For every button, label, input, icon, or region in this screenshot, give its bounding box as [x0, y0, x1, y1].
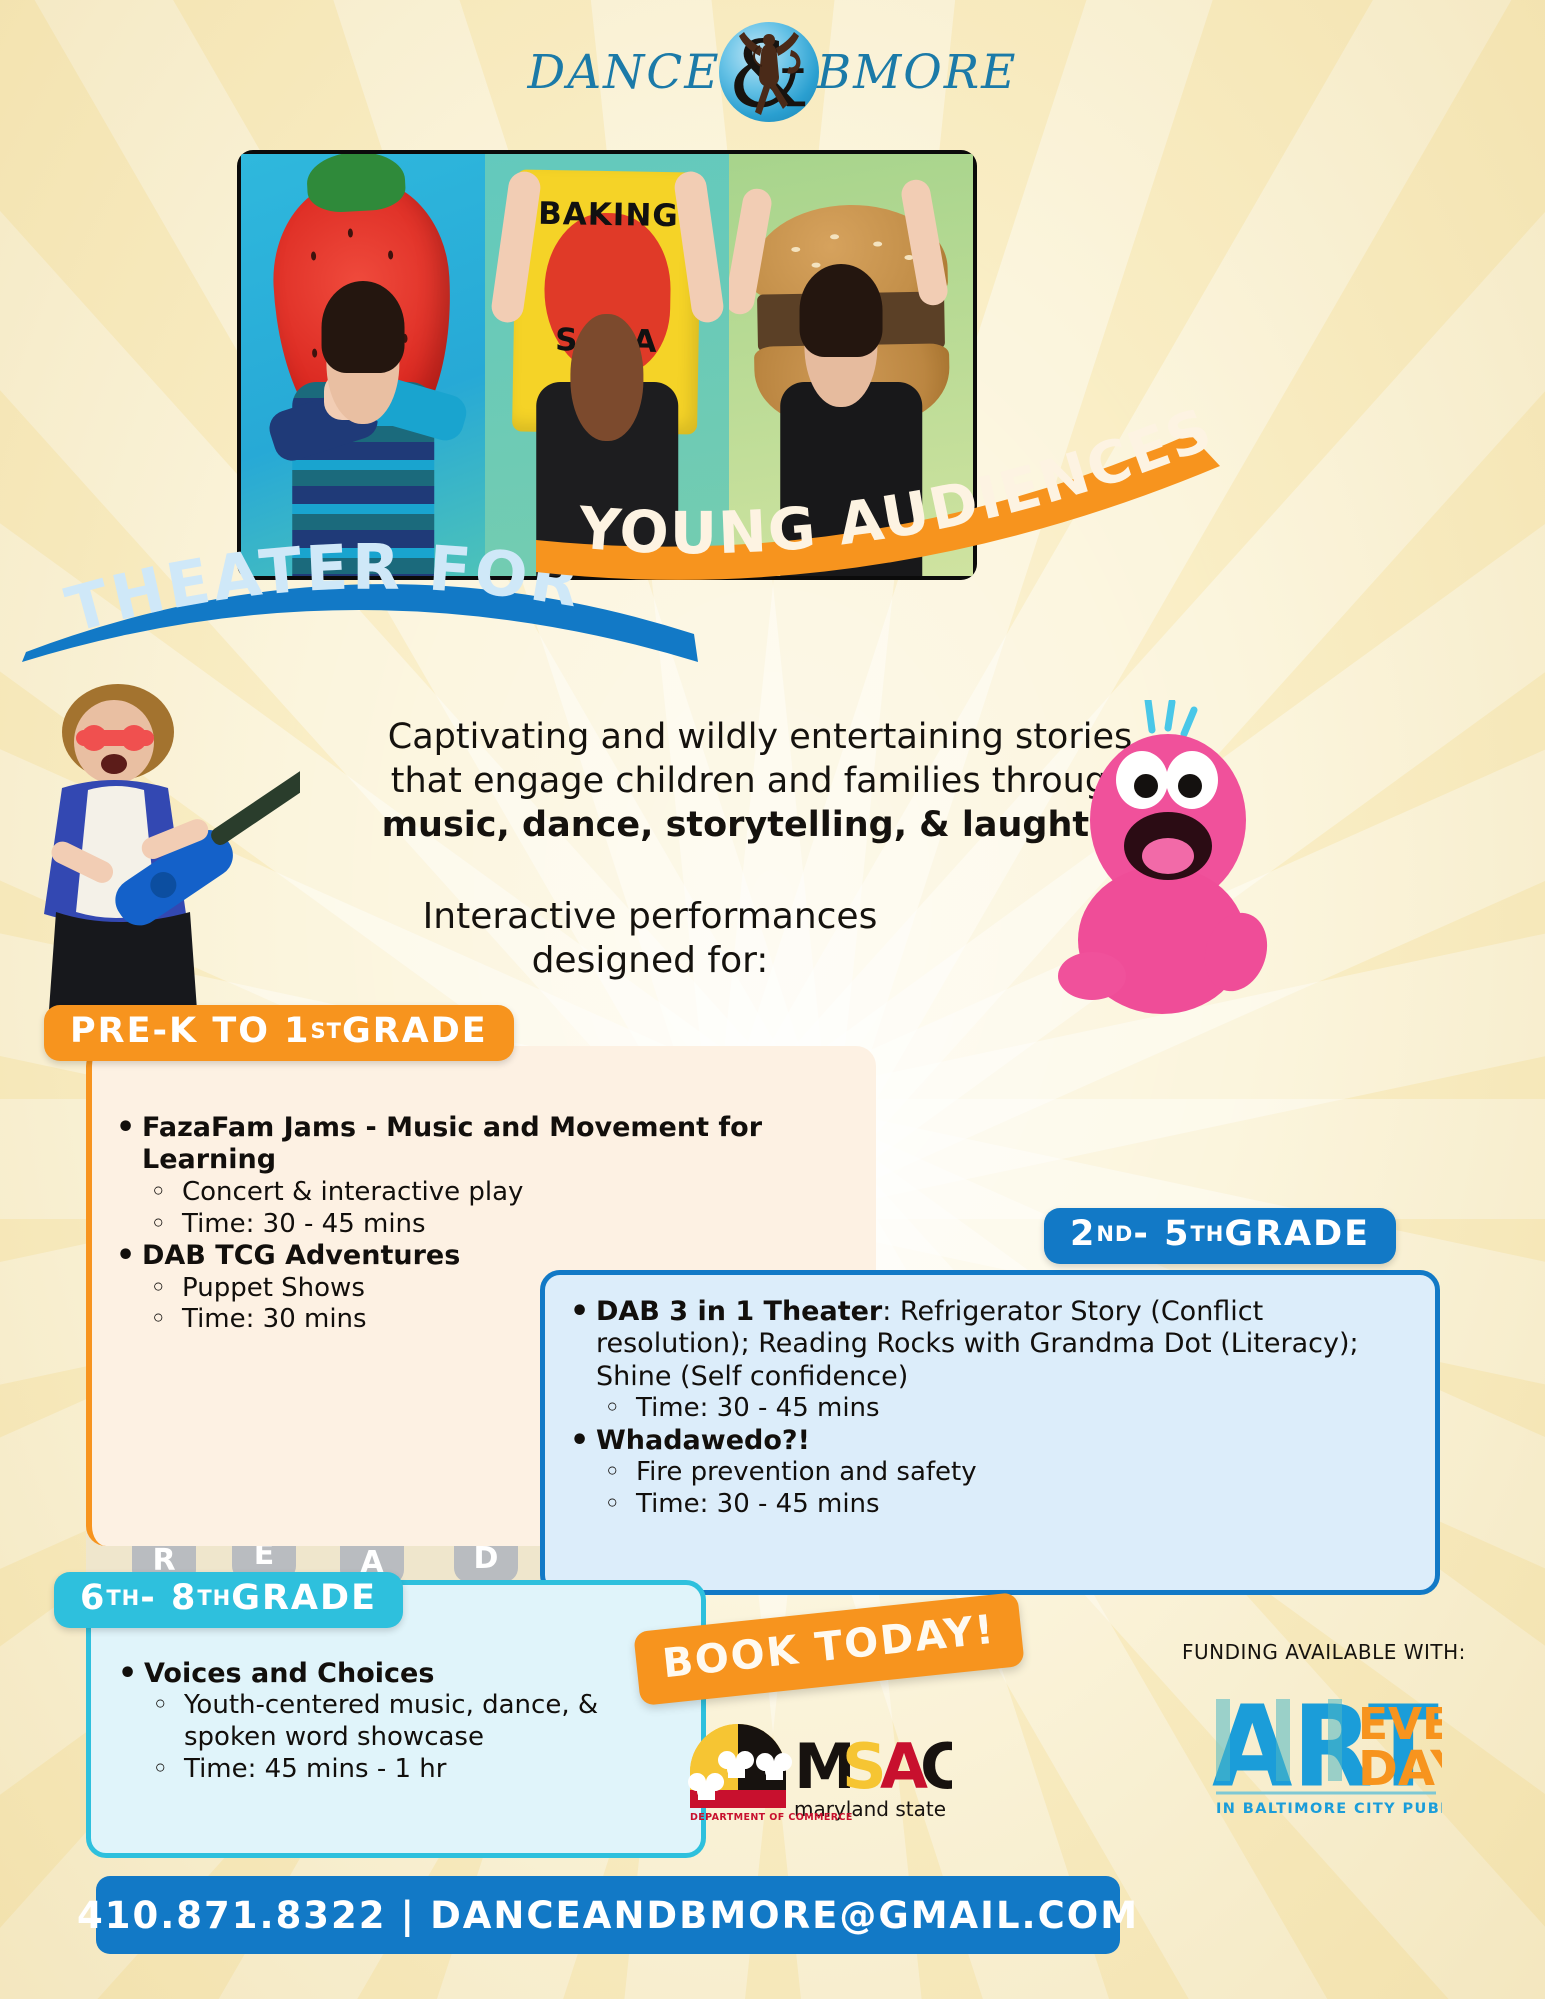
contact-footer[interactable]: 410.871.8322 | DANCEANDBMORE@GMAIL.COM: [96, 1876, 1120, 1954]
arts-every-day-logo: ARTS EVERY DAY IN BALTIMORE CITY PUBLIC …: [1210, 1673, 1442, 1823]
list-item: DAB TCG Adventures: [108, 1240, 868, 1272]
brand-word-right: Bmore: [817, 45, 1018, 100]
msac-logo: M S A C maryland state arts council DEPA…: [682, 1700, 952, 1830]
badge-pre-k: PRE-K TO 1ST GRADE: [44, 1005, 514, 1061]
banner-theater-text: THEATER FOR: [59, 530, 588, 647]
svg-text:THEATER FOR: THEATER FOR: [59, 530, 588, 647]
badge-6th-8th-main: 6: [80, 1578, 106, 1618]
badge-6th-8th-sup2: TH: [197, 1586, 231, 1610]
item-title: Whadawedo?!: [596, 1425, 810, 1456]
guitar-performer-photo: [10, 680, 300, 1030]
badge-6th-8th: 6TH - 8TH GRADE: [54, 1572, 403, 1628]
item-title: DAB TCG Adventures: [142, 1240, 460, 1271]
badge-pre-k-tail: GRADE: [342, 1011, 488, 1051]
list-item: Fire prevention and safety: [562, 1457, 1424, 1489]
strawberry-leaf: [305, 154, 406, 214]
funding-label: FUNDING AVAILABLE WITH:: [1182, 1640, 1466, 1664]
badge-2nd-5th: 2ND - 5TH GRADE: [1044, 1208, 1396, 1264]
msac-department: DEPARTMENT OF COMMERCE: [690, 1812, 853, 1823]
footer-phone[interactable]: 410.871.8322: [77, 1894, 387, 1937]
badge-2nd-5th-main: 2: [1070, 1214, 1096, 1254]
performer-hair-1: [322, 281, 405, 374]
list-item: Time: 30 - 45 mins: [562, 1489, 1424, 1521]
badge-pre-k-sup: ST: [311, 1019, 342, 1043]
list-item: Time: 30 - 45 mins: [562, 1393, 1424, 1425]
performer-face-2: [570, 314, 643, 441]
item-title: Voices and Choices: [144, 1658, 434, 1689]
badge-2nd-5th-tail: GRADE: [1224, 1214, 1370, 1254]
list-item: Time: 30 - 45 mins: [108, 1209, 868, 1241]
svg-text:D: D: [474, 1541, 499, 1576]
brand-logo: Dance & Bmore: [0, 18, 1545, 126]
badge-2nd-5th-sup2: TH: [1190, 1222, 1224, 1246]
footer-separator: |: [401, 1894, 417, 1937]
item-title: FazaFam Jams - Music and Movement for Le…: [142, 1112, 762, 1175]
footer-email[interactable]: DANCEANDBMORE@GMAIL.COM: [430, 1894, 1139, 1937]
intro-subheading: Interactive performances designed for:: [300, 895, 1000, 983]
aed-day: DAY: [1358, 1741, 1442, 1797]
sign-text-line1: BAKING: [515, 195, 701, 234]
badge-6th-8th-sup: TH: [106, 1586, 140, 1610]
badge-2nd-5th-sup: ND: [1096, 1222, 1133, 1246]
performer-hair-3: [800, 264, 883, 357]
dancer-silhouette-icon: [719, 22, 819, 122]
hero-photo-pane-strawberry: [241, 154, 485, 576]
list-item: Voices and Choices: [110, 1658, 690, 1690]
brand-dancer-icon: &: [719, 22, 819, 122]
brand-word-left: Dance: [528, 45, 721, 100]
badge-6th-8th-tail: GRADE: [231, 1578, 377, 1618]
list-item: Youth-centered music, dance, & spoken wo…: [110, 1690, 690, 1753]
item-title: DAB 3 in 1 Theater: [596, 1296, 882, 1327]
pink-puppet-photo: [1040, 700, 1280, 1030]
list-2nd-5th: DAB 3 in 1 Theater: Refrigerator Story (…: [562, 1296, 1424, 1521]
list-item: Whadawedo?!: [562, 1425, 1424, 1457]
badge-2nd-5th-mid: - 5: [1133, 1214, 1190, 1254]
intro-sub-line-2: designed for:: [300, 939, 1000, 983]
msac-letter-c: C: [920, 1730, 952, 1803]
list-item: Time: 45 mins - 1 hr: [110, 1754, 690, 1786]
aed-subtitle: IN BALTIMORE CITY PUBLIC SCHOOLS: [1216, 1801, 1442, 1817]
list-item: FazaFam Jams - Music and Movement for Le…: [108, 1112, 868, 1177]
list-item: Concert & interactive play: [108, 1177, 868, 1209]
list-6th-8th: Voices and Choices Youth-centered music,…: [110, 1658, 690, 1786]
banner-young-audiences: YOUNG AUDIENCES: [530, 424, 1230, 574]
badge-6th-8th-mid: - 8: [140, 1578, 197, 1618]
badge-pre-k-main: PRE-K TO 1: [70, 1011, 311, 1051]
intro-sub-line-1: Interactive performances: [300, 895, 1000, 939]
list-item: DAB 3 in 1 Theater: Refrigerator Story (…: [562, 1296, 1424, 1393]
